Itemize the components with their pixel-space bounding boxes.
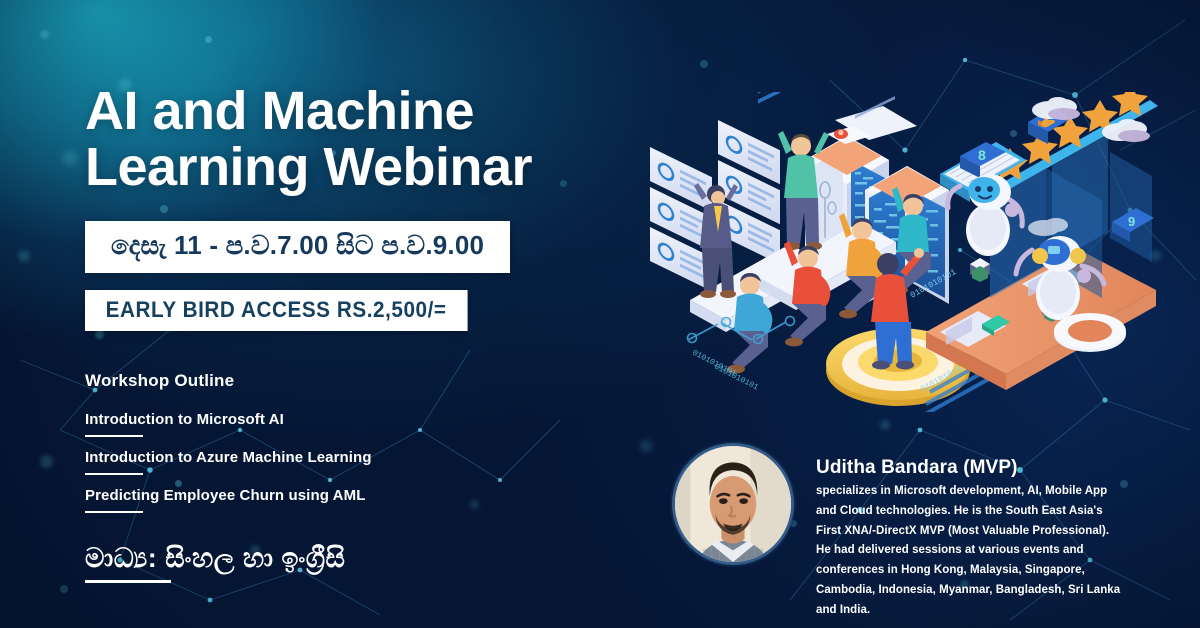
medium-language-note: මාධ්‍ය: සිංහල හා ඉංග්‍රීසි	[85, 543, 345, 583]
speaker-bio: specializes in Microsoft development, AI…	[816, 482, 1121, 620]
outline-item: Predicting Employee Churn using AML	[85, 487, 365, 513]
page-title: AI and Machine Learning Webinar	[85, 84, 640, 195]
workshop-outline-list: Introduction to Microsoft AI Introductio…	[85, 411, 640, 513]
round-pad	[1054, 313, 1126, 352]
workshop-outline-heading: Workshop Outline	[85, 371, 640, 391]
left-content: AI and Machine Learning Webinar දෙසැ 11 …	[0, 0, 640, 628]
webinar-banner: 0101010101 0101010101 0101010101	[0, 0, 1200, 628]
avatar	[672, 443, 794, 565]
speaker-name: Uditha Bandara (MVP)	[816, 457, 1121, 479]
speaker-text: Uditha Bandara (MVP) specializes in Micr…	[816, 443, 1121, 620]
isometric-illustration: 0101010101 0101010101 0101010101	[630, 92, 1200, 412]
svg-text:8: 8	[978, 147, 986, 163]
early-bird-price-badge: EARLY BIRD ACCESS RS.2,500/=	[85, 290, 467, 331]
outline-item: Introduction to Azure Machine Learning	[85, 449, 372, 475]
svg-text:9: 9	[1128, 214, 1135, 229]
outline-item: Introduction to Microsoft AI	[85, 411, 284, 437]
data-wall	[758, 92, 818, 104]
speaker-block: Uditha Bandara (MVP) specializes in Micr…	[672, 443, 1172, 620]
date-time-badge: දෙසැ 11 - ප.ව.7.00 සිට ප.ව.9.00	[85, 221, 510, 273]
